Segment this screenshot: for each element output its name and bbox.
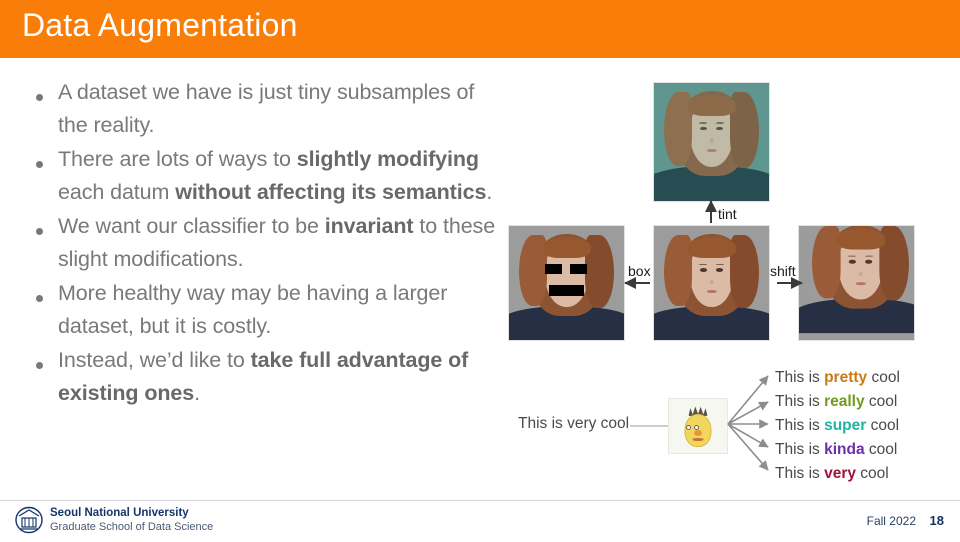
bert-eye-left [686,425,691,430]
augmented-sentence: This is pretty cool [775,366,900,390]
sentence-prefix: This is [775,441,824,458]
sentence-prefix: This is [775,393,824,410]
augmented-sentence: This is super cool [775,414,900,438]
snu-logo-icon [14,505,44,535]
substituted-word: very [824,465,856,482]
sentence-suffix: cool [865,441,898,458]
substituted-word: really [824,393,865,410]
footer-divider [0,500,960,501]
school-name: Graduate School of Data Science [50,520,213,534]
substituted-word: super [824,417,866,434]
sentence-prefix: This is [775,417,824,434]
university-name: Seoul National University [50,506,213,520]
arrow-variant-1 [728,376,768,424]
arrow-variant-2 [728,402,768,424]
sentence-prefix: This is [775,465,824,482]
bert-nose [694,430,702,436]
page-number: 18 [930,513,944,528]
substituted-word: kinda [824,441,864,458]
sentence-suffix: cool [866,417,899,434]
sentence-suffix: cool [867,369,900,386]
fanout-arrows [726,366,778,482]
augmented-sentence: This is kinda cool [775,438,900,462]
bert-icon [668,398,728,454]
substituted-word: pretty [824,369,867,386]
footer-branding: Seoul National University Graduate Schoo… [50,506,213,534]
arrow-variant-5 [728,424,768,470]
source-sentence: This is very cool [518,415,629,433]
augmented-sentence: This is really cool [775,390,900,414]
augmented-sentence: This is very cool [775,462,900,486]
sentence-suffix: cool [856,465,889,482]
text-augmentation-diagram: This is very cool This is pretty coolThi… [0,0,960,542]
sentence-prefix: This is [775,369,824,386]
augmented-sentence-list: This is pretty coolThis is really coolTh… [775,366,900,486]
bert-mouth [693,438,704,441]
sentence-suffix: cool [865,393,898,410]
arrow-variant-4 [728,424,768,447]
term-label: Fall 2022 [867,514,916,528]
